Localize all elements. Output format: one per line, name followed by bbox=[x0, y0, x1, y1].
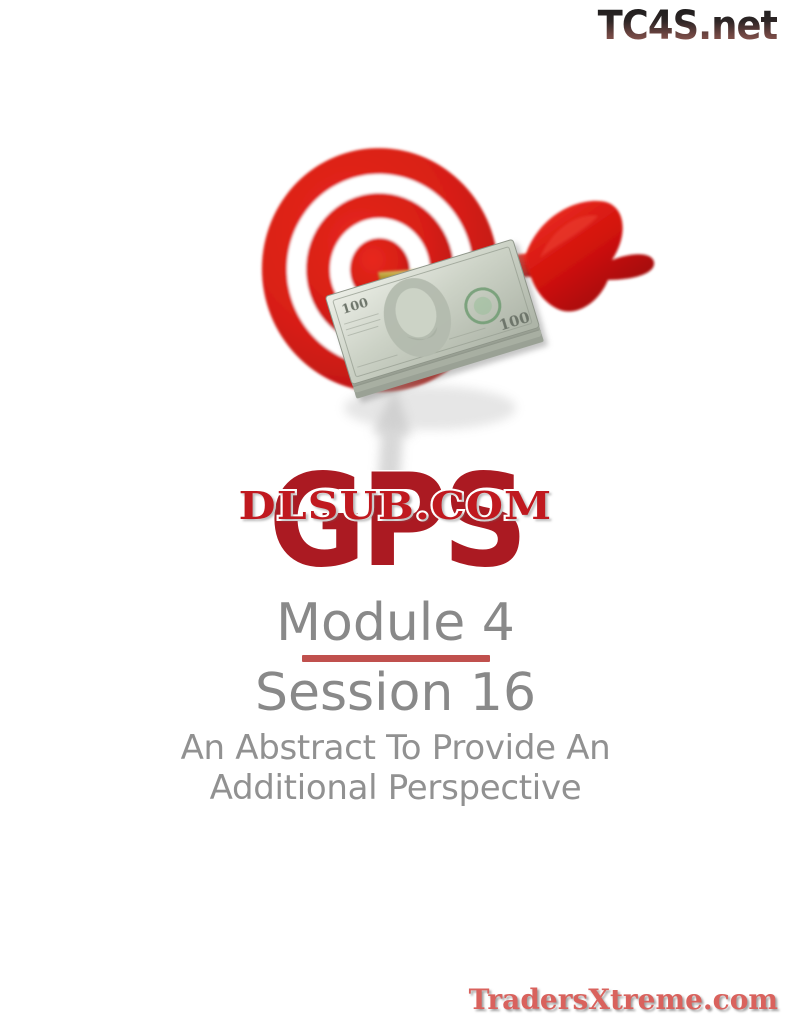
dart-flight bbox=[526, 201, 654, 312]
title-block: Module 4 Session 16 An Abstract To Provi… bbox=[0, 596, 791, 808]
dartboard-svg: 100 100 bbox=[240, 140, 660, 470]
slide-page: TC4S.net bbox=[0, 0, 791, 1024]
module-title: Module 4 bbox=[0, 596, 791, 650]
subtitle-line-1: An Abstract To Provide An bbox=[0, 728, 791, 768]
tradersxtreme-watermark: TradersXtreme.com bbox=[469, 986, 778, 1014]
session-title: Session 16 bbox=[0, 666, 791, 720]
title-divider-rule bbox=[302, 655, 490, 662]
dlsub-watermark: DLSUB.COM bbox=[0, 487, 791, 525]
dartboard-money-illustration: 100 100 bbox=[240, 140, 660, 470]
subtitle-block: An Abstract To Provide An Additional Per… bbox=[0, 728, 791, 808]
subtitle-line-2: Additional Perspective bbox=[0, 768, 791, 808]
tc4s-watermark: TC4S.net bbox=[597, 6, 777, 46]
